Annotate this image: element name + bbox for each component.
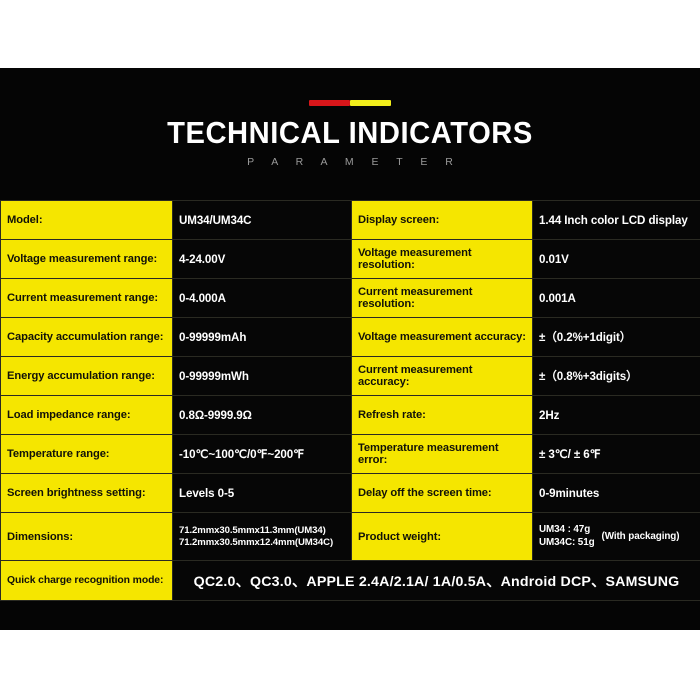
spec-label-energy-range: Energy accumulation range: (1, 357, 173, 396)
table-row: Screen brightness setting: Levels 0-5 De… (1, 474, 700, 513)
table-row: Capacity accumulation range: 0-99999mAh … (1, 318, 700, 357)
spec-label-temperature-error: Temperature measurement error: (352, 435, 533, 474)
spec-label-load-impedance: Load impedance range: (1, 396, 173, 435)
weight-cell: UM34 : 47g UM34C: 51g (With packaging) (539, 524, 694, 549)
page-subtitle: P A R A M E T E R (0, 156, 700, 168)
spec-value-product-weight: UM34 : 47g UM34C: 51g (With packaging) (533, 513, 700, 561)
spec-label-voltage-accuracy: Voltage measurement accuracy: (352, 318, 533, 357)
table-row: Temperature range: -10℃~100℃/0℉~200℉ Tem… (1, 435, 700, 474)
spec-poster: TECHNICAL INDICATORS P A R A M E T E R M… (0, 68, 700, 630)
poster-header: TECHNICAL INDICATORS P A R A M E T E R (0, 68, 700, 200)
accent-bar-red (309, 100, 350, 106)
spec-label-quick-charge: Quick charge recognition mode: (1, 561, 173, 601)
table-row-dimensions: Dimensions: 71.2mmx30.5mmx11.3mm(UM34) 7… (1, 513, 700, 561)
spec-value-current-range: 0-4.000A (173, 279, 352, 318)
spec-label-voltage-range: Voltage measurement range: (1, 240, 173, 279)
weight-line-2: UM34C: 51g (539, 537, 595, 549)
spec-value-quick-charge: QC2.0、QC3.0、APPLE 2.4A/2.1A/ 1A/0.5A、And… (173, 561, 700, 601)
page-title: TECHNICAL INDICATORS (21, 115, 679, 151)
spec-value-model: UM34/UM34C (173, 201, 352, 240)
table-row: Model: UM34/UM34C Display screen: 1.44 I… (1, 201, 700, 240)
spec-table: Model: UM34/UM34C Display screen: 1.44 I… (0, 200, 700, 601)
spec-value-refresh-rate: 2Hz (533, 396, 700, 435)
table-row: Energy accumulation range: 0-99999mWh Cu… (1, 357, 700, 396)
spec-value-voltage-resolution: 0.01V (533, 240, 700, 279)
spec-label-capacity-range: Capacity accumulation range: (1, 318, 173, 357)
weight-lines: UM34 : 47g UM34C: 51g (539, 524, 595, 549)
table-row: Load impedance range: 0.8Ω-9999.9Ω Refre… (1, 396, 700, 435)
spec-label-screen-brightness: Screen brightness setting: (1, 474, 173, 513)
spec-value-dimensions: 71.2mmx30.5mmx11.3mm(UM34) 71.2mmx30.5mm… (173, 513, 352, 561)
accent-bar-yellow (350, 100, 391, 106)
spec-label-delay-off-screen: Delay off the screen time: (352, 474, 533, 513)
spec-value-temperature-error: ± 3℃/ ± 6℉ (533, 435, 700, 474)
dimensions-line-2: 71.2mmx30.5mmx12.4mm(UM34C) (179, 537, 345, 549)
table-row: Voltage measurement range: 4-24.00V Volt… (1, 240, 700, 279)
spec-label-temperature-range: Temperature range: (1, 435, 173, 474)
spec-label-dimensions: Dimensions: (1, 513, 173, 561)
spec-label-refresh-rate: Refresh rate: (352, 396, 533, 435)
spec-value-display-screen: 1.44 Inch color LCD display (533, 201, 700, 240)
weight-packaging-note: (With packaging) (602, 531, 680, 542)
accent-bar-group (0, 100, 700, 106)
spec-value-energy-range: 0-99999mWh (173, 357, 352, 396)
table-row-quick-charge: Quick charge recognition mode: QC2.0、QC3… (1, 561, 700, 601)
spec-label-voltage-resolution: Voltage measurement resolution: (352, 240, 533, 279)
spec-value-load-impedance: 0.8Ω-9999.9Ω (173, 396, 352, 435)
spec-label-product-weight: Product weight: (352, 513, 533, 561)
spec-value-current-resolution: 0.001A (533, 279, 700, 318)
spec-value-current-accuracy: ±（0.8%+3digits） (533, 357, 700, 396)
weight-line-1: UM34 : 47g (539, 524, 595, 536)
spec-value-capacity-range: 0-99999mAh (173, 318, 352, 357)
page-root: TECHNICAL INDICATORS P A R A M E T E R M… (0, 0, 700, 700)
spec-table-wrapper: Model: UM34/UM34C Display screen: 1.44 I… (0, 200, 700, 601)
spec-value-voltage-range: 4-24.00V (173, 240, 352, 279)
table-row: Current measurement range: 0-4.000A Curr… (1, 279, 700, 318)
spec-label-current-accuracy: Current measurement accuracy: (352, 357, 533, 396)
dimensions-line-1: 71.2mmx30.5mmx11.3mm(UM34) (179, 525, 345, 537)
dimensions-lines: 71.2mmx30.5mmx11.3mm(UM34) 71.2mmx30.5mm… (179, 525, 345, 549)
spec-label-current-resolution: Current measurement resolution: (352, 279, 533, 318)
spec-label-model: Model: (1, 201, 173, 240)
spec-label-current-range: Current measurement range: (1, 279, 173, 318)
spec-value-temperature-range: -10℃~100℃/0℉~200℉ (173, 435, 352, 474)
spec-value-delay-off-screen: 0-9minutes (533, 474, 700, 513)
spec-value-screen-brightness: Levels 0-5 (173, 474, 352, 513)
spec-value-voltage-accuracy: ±（0.2%+1digit） (533, 318, 700, 357)
spec-label-display-screen: Display screen: (352, 201, 533, 240)
